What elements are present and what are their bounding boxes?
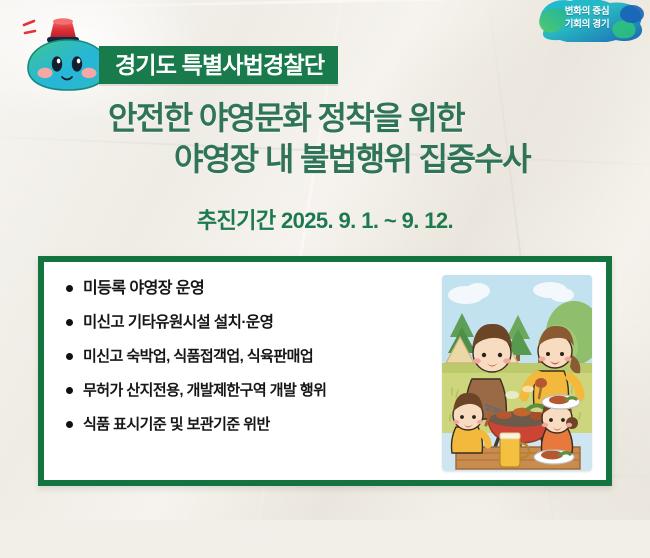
list-item-label: 무허가 산지전용, 개발제한구역 개발 행위 [83, 380, 326, 401]
list-item-label: 식품 표시기준 및 보관기준 위반 [83, 414, 270, 435]
food-plate [542, 395, 580, 409]
siren-motion-lines [24, 21, 35, 33]
bullet-dot-icon [66, 285, 73, 292]
title-line-1: 안전한 야영문화 정착을 위한 [0, 98, 650, 139]
list-item: 식품 표시기준 및 보관기준 위반 [66, 414, 438, 435]
gyeonggi-brand-badge: 변화의 중심 기회의 경기 [536, 0, 644, 42]
list-item-label: 미신고 숙박업, 식품접객업, 식육판매업 [83, 346, 313, 367]
brand-badge-line2: 기회의 경기 [536, 18, 638, 31]
org-banner: 경기도 특별사법경찰단 [99, 46, 338, 84]
family-camping-bbq-illustration [442, 275, 592, 471]
poster-canvas: 변화의 중심 기회의 경기 [0, 0, 650, 520]
mascot-cheek [38, 68, 53, 78]
food-plate [534, 450, 574, 464]
campaign-period: 추진기간 2025. 9. 1. ~ 9. 12. [0, 203, 650, 235]
bullet-dot-icon [66, 319, 73, 326]
brand-badge-line1: 변화의 중심 [536, 5, 638, 18]
content-card: 미등록 야영장 운영 미신고 기타유원시설 설치·운영 미신고 숙박업, 식품접… [38, 256, 612, 486]
bullet-dot-icon [66, 387, 73, 394]
bullet-dot-icon [66, 353, 73, 360]
org-banner-label: 경기도 특별사법경찰단 [115, 54, 324, 77]
violation-list: 미등록 야영장 운영 미신고 기타유원시설 설치·운영 미신고 숙박업, 식품접… [66, 278, 438, 435]
mascot-eye [52, 56, 62, 71]
brand-badge-text: 변화의 중심 기회의 경기 [536, 5, 638, 31]
list-item-label: 미등록 야영장 운영 [83, 278, 204, 299]
list-item: 미신고 기타유원시설 설치·운영 [66, 312, 438, 333]
list-item: 무허가 산지전용, 개발제한구역 개발 행위 [66, 380, 438, 401]
mascot-eye [72, 56, 82, 71]
bullet-dot-icon [66, 421, 73, 428]
camping-bbq-icon [442, 275, 592, 471]
title-line-2: 야영장 내 불법행위 집중수사 [0, 139, 650, 180]
list-item: 미신고 숙박업, 식품접객업, 식육판매업 [66, 346, 438, 367]
page-title: 안전한 야영문화 정착을 위한 야영장 내 불법행위 집중수사 [0, 98, 650, 180]
list-item: 미등록 야영장 운영 [66, 278, 438, 299]
list-item-label: 미신고 기타유원시설 설치·운영 [83, 312, 273, 333]
mascot-cheek [82, 68, 97, 78]
